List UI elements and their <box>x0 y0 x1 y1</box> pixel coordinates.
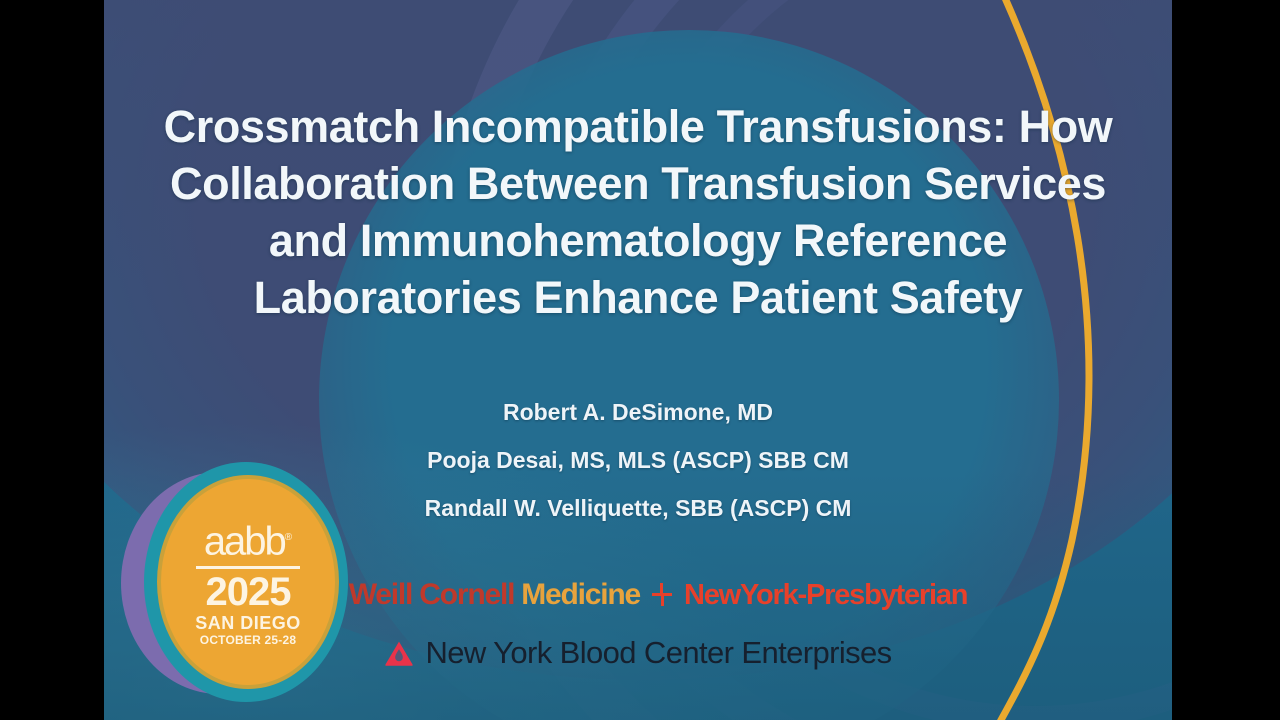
slide-canvas: Crossmatch Incompatible Transfusions: Ho… <box>104 0 1172 720</box>
badge-face: aabb® 2025 SAN DIEGO OCTOBER 25-28 <box>161 479 335 685</box>
weill-cornell-wordmark: Weill Cornell <box>349 579 515 611</box>
nybc-wordmark: New York Blood Center Enterprises <box>425 636 891 670</box>
title-line-4: Laboratories Enhance Patient Safety <box>104 269 1172 326</box>
registered-mark-icon: ® <box>285 532 292 543</box>
badge-city: SAN DIEGO <box>195 613 301 633</box>
presentation-slide-frame: Crossmatch Incompatible Transfusions: Ho… <box>0 0 1280 720</box>
new-york-blood-center-logo: New York Blood Center Enterprises <box>384 636 891 670</box>
aabb-conference-badge: aabb® 2025 SAN DIEGO OCTOBER 25-28 <box>121 462 371 720</box>
letterbox-bar-right <box>1172 0 1280 720</box>
nyp-pinwheel-icon <box>652 582 672 608</box>
blood-drop-triangle-icon <box>384 640 414 667</box>
aabb-wordmark: aabb® <box>204 518 292 561</box>
badge-divider-rule <box>196 566 300 569</box>
title-line-2: Collaboration Between Transfusion Servic… <box>104 155 1172 212</box>
title-line-3: and Immunohematology Reference <box>104 212 1172 269</box>
badge-year: 2025 <box>206 571 291 613</box>
author-name-1: Robert A. DeSimone, MD <box>104 388 1172 436</box>
nyp-wordmark: NewYork-Presbyterian <box>684 579 967 611</box>
badge-dates: OCTOBER 25-28 <box>200 633 296 648</box>
title-line-1: Crossmatch Incompatible Transfusions: Ho… <box>104 98 1172 155</box>
letterbox-bar-left <box>0 0 104 720</box>
aabb-wordmark-text: aabb <box>204 520 285 564</box>
slide-title: Crossmatch Incompatible Transfusions: Ho… <box>104 98 1172 326</box>
weill-cornell-medicine-wordmark: Medicine <box>521 579 640 611</box>
